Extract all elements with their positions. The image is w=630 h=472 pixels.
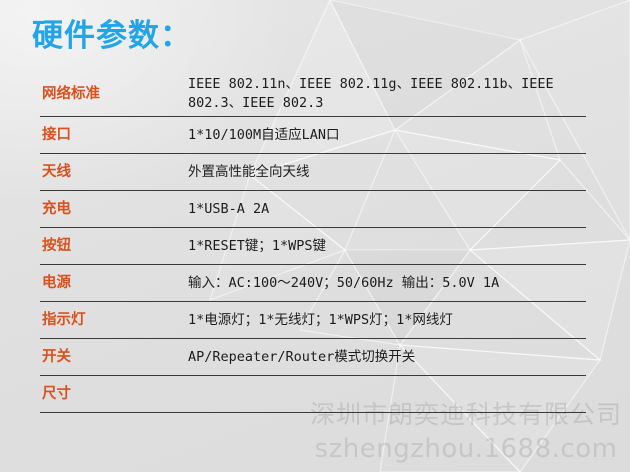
table-row: 指示灯 1*电源灯；1*无线灯；1*WPS灯；1*网线灯 bbox=[40, 302, 586, 339]
spec-value-switch: AP/Repeater/Router模式切换开关 bbox=[188, 348, 586, 367]
spec-value-charging: 1*USB-A 2A bbox=[188, 200, 586, 219]
spec-label-antenna: 天线 bbox=[40, 162, 188, 182]
spec-value-antenna: 外置高性能全向天线 bbox=[188, 163, 586, 182]
spec-value-power: 输入：AC:100～240V；50/60Hz 输出：5.0V 1A bbox=[188, 274, 586, 293]
table-row: 按钮 1*RESET键；1*WPS键 bbox=[40, 228, 586, 265]
spec-label-switch: 开关 bbox=[40, 347, 188, 367]
table-row: 尺寸 bbox=[40, 376, 586, 413]
spec-label-power: 电源 bbox=[40, 273, 188, 293]
table-row: 天线 外置高性能全向天线 bbox=[40, 154, 586, 191]
table-row: 接口 1*10/100M自适应LAN口 bbox=[40, 117, 586, 154]
hardware-spec-table: 网络标准 IEEE 802.11n、IEEE 802.11g、IEEE 802.… bbox=[40, 72, 586, 413]
spec-label-network-standard: 网络标准 bbox=[40, 84, 188, 104]
spec-value-indicator-lights: 1*电源灯；1*无线灯；1*WPS灯；1*网线灯 bbox=[188, 311, 586, 330]
spec-value-network-standard: IEEE 802.11n、IEEE 802.11g、IEEE 802.11b、I… bbox=[188, 75, 586, 113]
spec-label-charging: 充电 bbox=[40, 199, 188, 219]
spec-label-indicator-lights: 指示灯 bbox=[40, 310, 188, 330]
spec-sheet-page: 硬件参数： 网络标准 IEEE 802.11n、IEEE 802.11g、IEE… bbox=[0, 0, 630, 472]
spec-label-buttons: 按钮 bbox=[40, 236, 188, 256]
table-row: 电源 输入：AC:100～240V；50/60Hz 输出：5.0V 1A bbox=[40, 265, 586, 302]
spec-label-dimensions: 尺寸 bbox=[40, 384, 188, 404]
spec-value-buttons: 1*RESET键；1*WPS键 bbox=[188, 237, 586, 256]
page-title: 硬件参数： bbox=[32, 18, 192, 54]
table-row: 充电 1*USB-A 2A bbox=[40, 191, 586, 228]
spec-label-interface: 接口 bbox=[40, 125, 188, 145]
spec-value-interface: 1*10/100M自适应LAN口 bbox=[188, 126, 586, 145]
table-row: 网络标准 IEEE 802.11n、IEEE 802.11g、IEEE 802.… bbox=[40, 72, 586, 117]
table-row: 开关 AP/Repeater/Router模式切换开关 bbox=[40, 339, 586, 376]
